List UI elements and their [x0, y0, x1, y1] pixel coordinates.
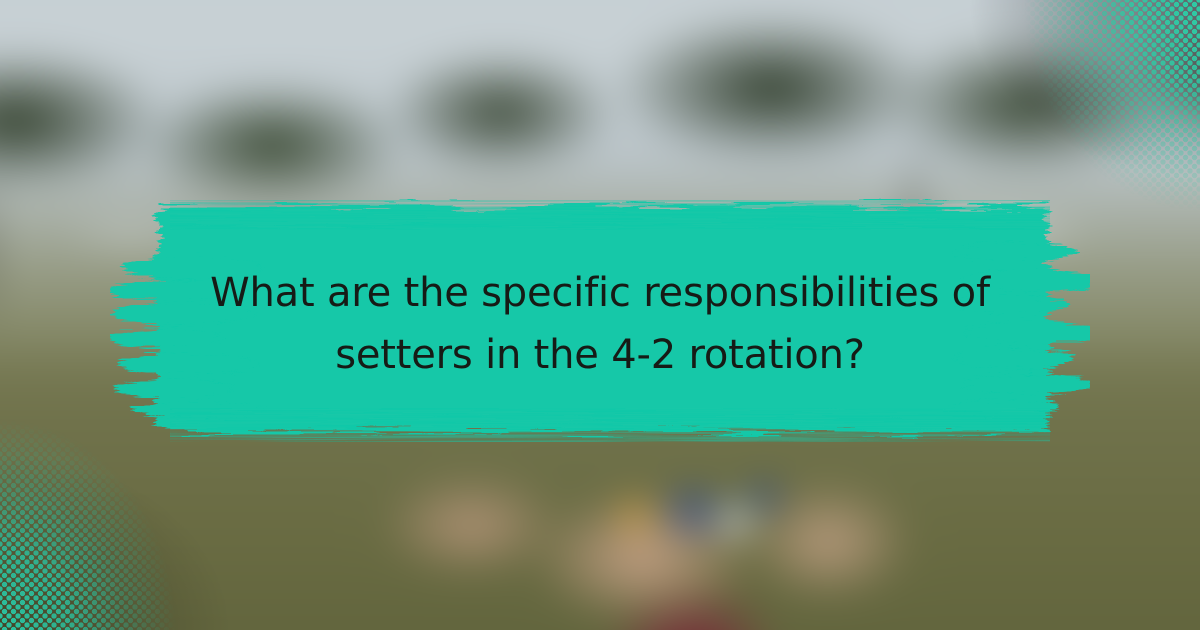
page-title: What are the specific responsibilities o…	[150, 262, 1050, 386]
question-card: What are the specific responsibilities o…	[0, 0, 1200, 630]
